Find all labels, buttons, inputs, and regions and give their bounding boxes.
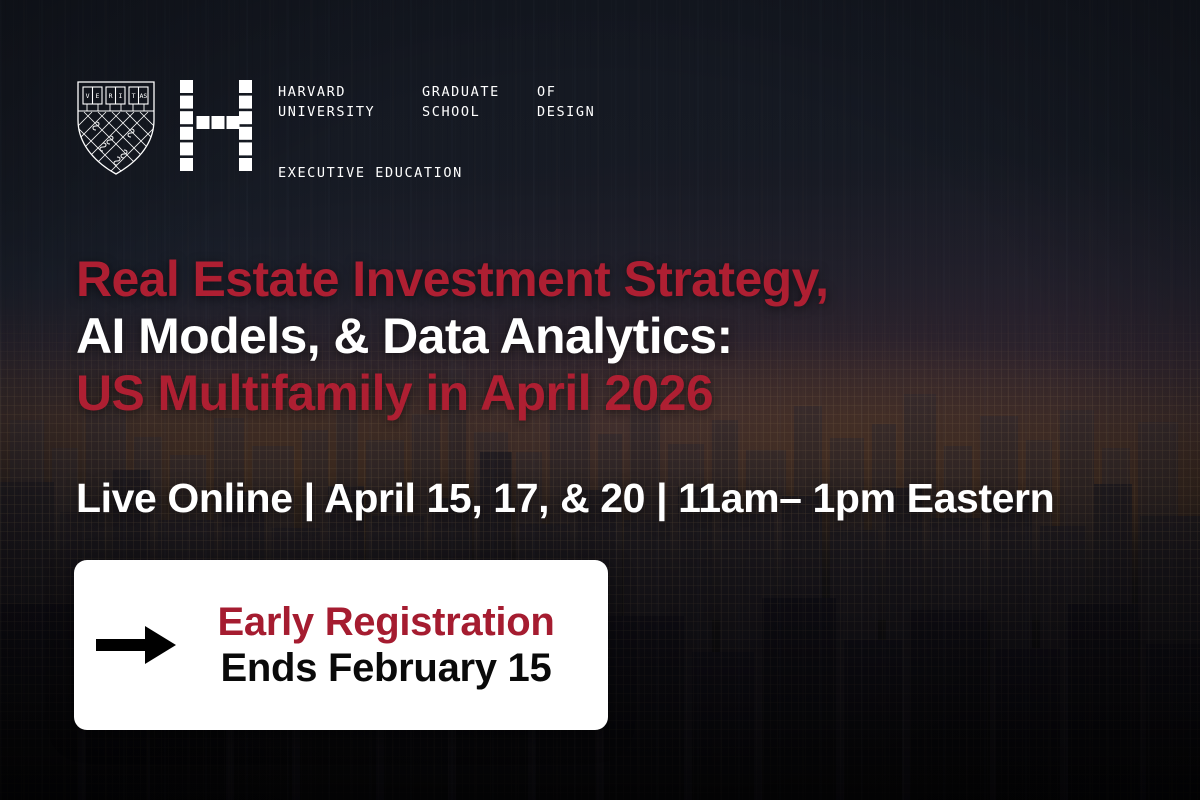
wordmark-tagline-executive-education: EXECUTIVE EDUCATION [278, 163, 647, 183]
svg-text:V: V [86, 92, 90, 100]
wordmark-line-graduate: GRADUATE [422, 82, 537, 102]
cta-line-early-registration: Early Registration [182, 599, 590, 645]
headline-line-2: AI Models, & Data Analytics: [76, 308, 828, 365]
svg-text:T: T [132, 92, 136, 100]
early-registration-cta-card[interactable]: Early Registration Ends February 15 [74, 560, 608, 730]
gsd-wordmark: HARVARD UNIVERSITY GRADUATE SCHOOL OF DE… [278, 82, 647, 183]
cta-text-block: Early Registration Ends February 15 [182, 599, 608, 691]
svg-text:R: R [109, 92, 113, 100]
page-title: Real Estate Investment Strategy, AI Mode… [76, 251, 828, 422]
harvard-gsd-shield-icon: VE RI TAS [76, 78, 156, 178]
harvard-gsd-logo-lockup: VE RI TAS [76, 78, 647, 183]
wordmark-line-university: UNIVERSITY [278, 102, 422, 122]
gsd-monogram-h-icon [180, 80, 252, 172]
wordmark-column-harvard-university: HARVARD UNIVERSITY [278, 82, 422, 122]
wordmark-line-school: SCHOOL [422, 102, 537, 122]
headline-line-3: US Multifamily in April 2026 [76, 365, 828, 422]
wordmark-line-of: OF [537, 82, 647, 102]
wordmark-line-design: DESIGN [537, 102, 647, 122]
cta-line-ends-february: Ends February 15 [182, 645, 590, 691]
promotional-banner: VE RI TAS [0, 0, 1200, 800]
wordmark-line-harvard: HARVARD [278, 82, 422, 102]
event-details-line: Live Online | April 15, 17, & 20 | 11am–… [76, 473, 1054, 523]
svg-text:AS: AS [139, 92, 147, 100]
headline-line-1: Real Estate Investment Strategy, [76, 251, 828, 308]
svg-text:E: E [95, 92, 99, 100]
wordmark-column-graduate-school: GRADUATE SCHOOL [422, 82, 537, 122]
wordmark-column-of-design: OF DESIGN [537, 82, 647, 122]
arrow-right-icon [90, 620, 182, 670]
svg-text:I: I [118, 92, 122, 100]
